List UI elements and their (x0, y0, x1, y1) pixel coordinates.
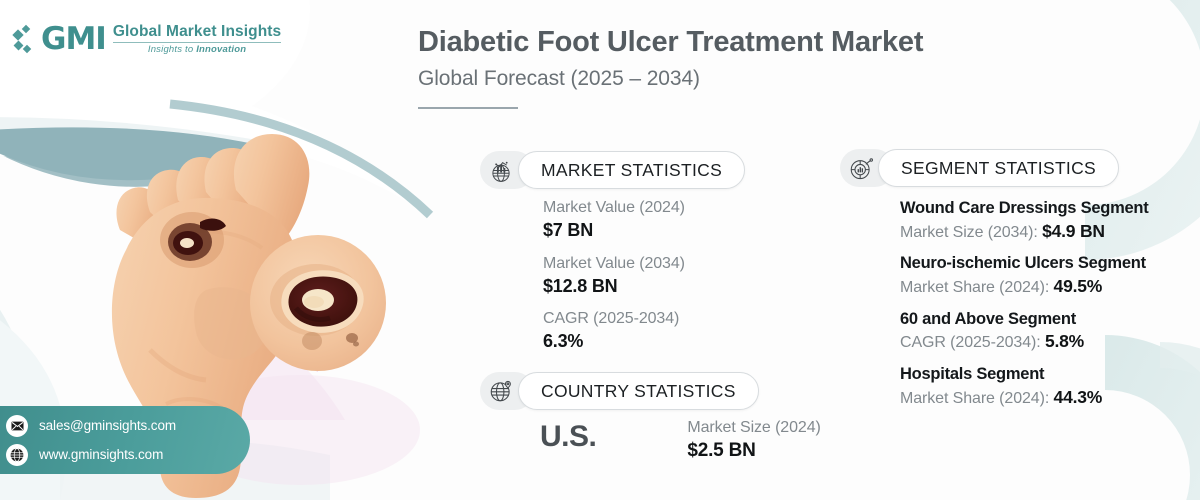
logo-diamond-icon (14, 22, 34, 56)
market-statistics-label: MARKET STATISTICS (541, 160, 722, 181)
segment-row: Wound Care Dressings Segment Market Size… (900, 198, 1149, 243)
country-statistics-block: U.S. Market Size (2024) $2.5 BN (540, 418, 821, 464)
header-block: Diabetic Foot Ulcer Treatment Market Glo… (418, 26, 923, 109)
segment-metric-value: 5.8% (1045, 331, 1084, 351)
segment-metric-value: $4.9 BN (1042, 221, 1105, 241)
brand-logo: GMI Global Market Insights Insights to I… (14, 22, 281, 56)
title-underline (418, 107, 518, 109)
stat-value: $12.8 BN (543, 275, 685, 298)
market-statistics-badge: MARKET STATISTICS (480, 151, 745, 189)
segment-statistics-badge: SEGMENT STATISTICS (840, 149, 1119, 187)
segment-metric-value: 49.5% (1054, 276, 1103, 296)
contact-email: sales@gminsights.com (39, 418, 176, 433)
segment-row: 60 and Above Segment CAGR (2025-2034): 5… (900, 309, 1149, 354)
stat-value: 6.3% (543, 330, 685, 353)
country-statistics-label: COUNTRY STATISTICS (541, 381, 736, 402)
logo-tagline-emphasis: Innovation (196, 44, 246, 55)
logo-divider (113, 42, 281, 43)
segment-title: Hospitals Segment (900, 364, 1149, 385)
country-stat-value: $2.5 BN (687, 439, 820, 464)
stat-row: CAGR (2025-2034) 6.3% (543, 309, 685, 354)
country-stat-label: Market Size (2024) (687, 418, 820, 437)
stat-label: CAGR (2025-2034) (543, 309, 685, 328)
globe-icon (6, 444, 28, 466)
segment-row: Hospitals Segment Market Share (2024): 4… (900, 364, 1149, 409)
envelope-icon (6, 415, 28, 437)
country-figures: Market Size (2024) $2.5 BN (687, 418, 820, 464)
contact-website-row[interactable]: www.gminsights.com (6, 444, 250, 466)
segment-metric-label: Market Share (2024): (900, 279, 1054, 296)
page-subtitle: Global Forecast (2025 – 2034) (418, 67, 923, 91)
logo-mark: GMI (41, 24, 106, 55)
market-statistics-list: Market Value (2024) $7 BN Market Value (… (543, 198, 685, 365)
contact-website: www.gminsights.com (39, 447, 163, 462)
logo-company-name: Global Market Insights (113, 23, 281, 40)
stat-value: $7 BN (543, 219, 685, 242)
segment-statistics-list: Wound Care Dressings Segment Market Size… (900, 198, 1149, 420)
stat-label: Market Value (2034) (543, 254, 685, 273)
contact-bar: sales@gminsights.com www.gminsights.com (0, 406, 250, 474)
segment-title: 60 and Above Segment (900, 309, 1149, 330)
segment-row: Neuro-ischemic Ulcers Segment Market Sha… (900, 253, 1149, 298)
stat-row: Market Value (2034) $12.8 BN (543, 254, 685, 299)
segment-title: Wound Care Dressings Segment (900, 198, 1149, 219)
segment-title: Neuro-ischemic Ulcers Segment (900, 253, 1149, 274)
market-statistics-pill: MARKET STATISTICS (518, 151, 745, 189)
logo-tagline-prefix: Insights to (148, 44, 196, 55)
segment-metric: Market Size (2034): $4.9 BN (900, 220, 1149, 244)
segment-metric-label: Market Size (2034): (900, 224, 1042, 241)
country-statistics-pill: COUNTRY STATISTICS (518, 372, 759, 410)
segment-metric: Market Share (2024): 44.3% (900, 386, 1149, 410)
segment-metric: CAGR (2025-2034): 5.8% (900, 330, 1149, 354)
segment-statistics-label: SEGMENT STATISTICS (901, 158, 1096, 179)
segment-metric: Market Share (2024): 49.5% (900, 275, 1149, 299)
page-title: Diabetic Foot Ulcer Treatment Market (418, 26, 923, 59)
stat-row: Market Value (2024) $7 BN (543, 198, 685, 243)
logo-tagline: Insights to Innovation (113, 44, 281, 55)
contact-email-row[interactable]: sales@gminsights.com (6, 415, 250, 437)
segment-metric-value: 44.3% (1054, 387, 1103, 407)
segment-statistics-pill: SEGMENT STATISTICS (878, 149, 1119, 187)
country-name: U.S. (540, 418, 596, 456)
segment-metric-label: Market Share (2024): (900, 390, 1054, 407)
stat-label: Market Value (2024) (543, 198, 685, 217)
infographic-canvas: GMI Global Market Insights Insights to I… (0, 0, 1200, 500)
country-statistics-badge: COUNTRY STATISTICS (480, 372, 759, 410)
segment-metric-label: CAGR (2025-2034): (900, 334, 1045, 351)
